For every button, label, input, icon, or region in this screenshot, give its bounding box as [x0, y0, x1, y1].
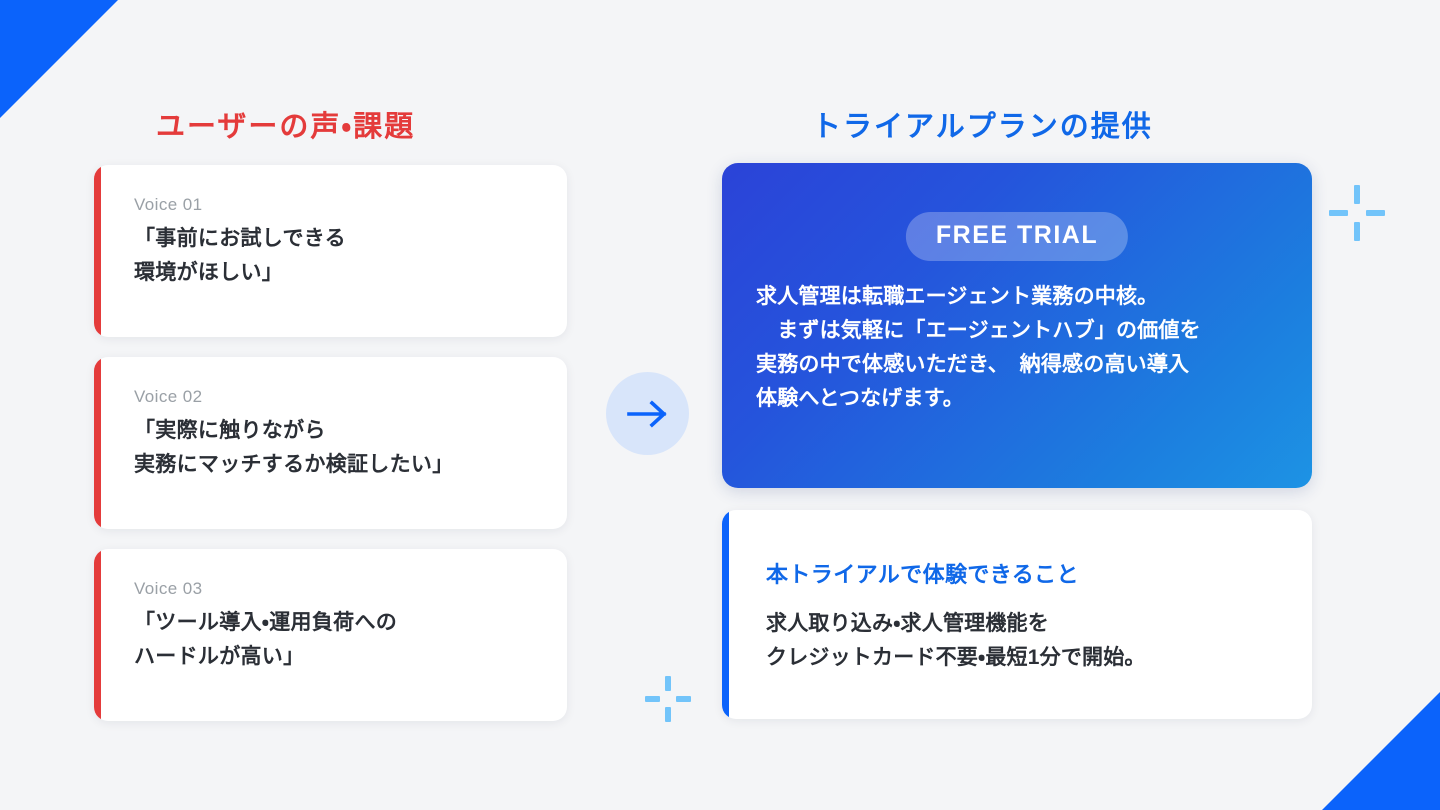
plus-mark-small-icon	[645, 676, 691, 722]
voice-card-label: Voice 03	[134, 579, 541, 599]
feature-card-accent-bar	[722, 510, 729, 719]
plus-mark-large-icon	[1329, 185, 1385, 241]
corner-triangle-bottom-right-icon	[1322, 692, 1440, 810]
arrow-right-icon	[626, 400, 670, 428]
trial-features-card: 本トライアルで体験できること 求人取り込み・求人管理機能を クレジットカード不要…	[722, 510, 1312, 719]
corner-triangle-top-left-icon	[0, 0, 118, 118]
voice-card: Voice 02 「実際に触りながら 実務にマッチするか検証したい」	[94, 357, 567, 529]
voice-card-accent-bar	[94, 165, 101, 337]
trial-plan-card: FREE TRIAL 求人管理は転職エージェント業務の中核。 まずは気軽に「エー…	[722, 163, 1312, 488]
connector-arrow-circle	[606, 372, 689, 455]
right-column-heading: トライアルプランの提供	[812, 103, 1153, 145]
voice-card-label: Voice 02	[134, 387, 541, 407]
voice-card-accent-bar	[94, 357, 101, 529]
voice-card: Voice 01 「事前にお試しできる 環境がほしい」	[94, 165, 567, 337]
voice-card-accent-bar	[94, 549, 101, 721]
voice-card-quote: 「事前にお試しできる 環境がほしい」	[134, 222, 541, 290]
trial-plan-description: 求人管理は転職エージェント業務の中核。 まずは気軽に「エージェントハブ」の価値を…	[756, 280, 1286, 416]
feature-card-description: 求人取り込み・求人管理機能を クレジットカード不要・最短1分で開始。	[766, 607, 1146, 675]
voice-card: Voice 03 「ツール導入・運用負荷への ハードルが高い」	[94, 549, 567, 721]
free-trial-badge: FREE TRIAL	[906, 212, 1128, 261]
left-column-heading: ユーザーの声・課題	[156, 103, 415, 145]
voice-card-quote: 「実際に触りながら 実務にマッチするか検証したい」	[134, 414, 541, 482]
voice-card-label: Voice 01	[134, 195, 541, 215]
voice-card-quote: 「ツール導入・運用負荷への ハードルが高い」	[134, 606, 541, 674]
feature-card-title: 本トライアルで体験できること	[766, 557, 1079, 589]
slide-canvas: ユーザーの声・課題 トライアルプランの提供 Voice 01 「事前にお試しでき…	[0, 0, 1440, 810]
